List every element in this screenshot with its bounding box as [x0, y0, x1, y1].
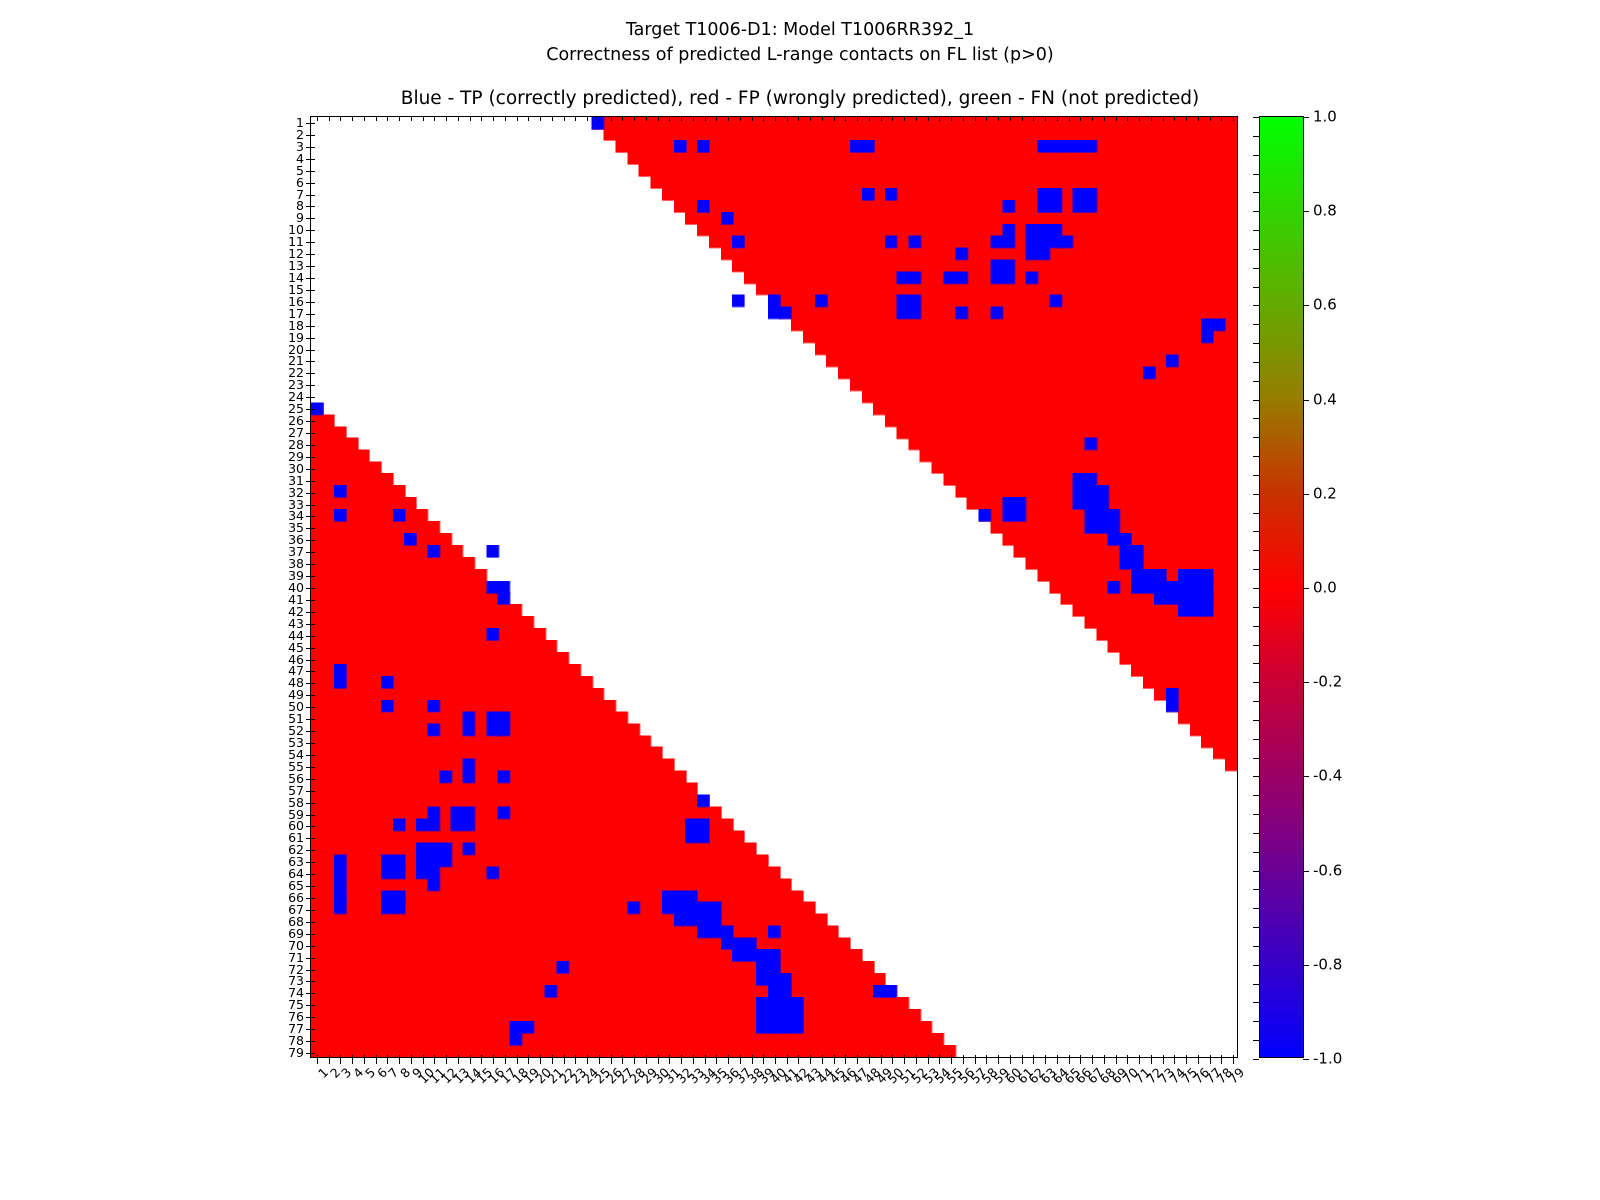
colorbar-minor-tick — [1253, 1059, 1259, 1060]
x-tick-inner — [458, 1055, 459, 1059]
x-tick — [599, 1059, 600, 1064]
colorbar-minor-tick — [1253, 494, 1259, 495]
x-tick-inner — [575, 1055, 576, 1059]
colorbar-tick-label: 0.0 — [1313, 581, 1337, 596]
y-tick-inner — [311, 731, 315, 732]
y-tick-inner — [311, 147, 315, 148]
x-tick — [881, 1059, 882, 1064]
x-tick-top — [1045, 117, 1046, 121]
x-tick-inner — [1221, 1055, 1222, 1059]
x-tick — [1163, 1059, 1164, 1064]
x-tick-top — [998, 117, 999, 121]
x-tick — [1033, 1059, 1034, 1064]
y-tick-inner — [311, 1005, 315, 1006]
x-tick-inner — [564, 1055, 565, 1059]
x-tick-inner — [517, 1055, 518, 1059]
x-tick-top — [646, 117, 647, 121]
x-tick-top — [493, 117, 494, 121]
x-tick-inner — [1210, 1055, 1211, 1059]
x-tick-top — [634, 117, 635, 121]
colorbar-minor-tick — [1253, 475, 1259, 476]
colorbar-minor-tick — [1253, 965, 1259, 966]
colorbar-minor-tick — [1253, 720, 1259, 721]
x-tick-top — [939, 117, 940, 121]
colorbar-minor-tick — [1253, 418, 1259, 419]
x-tick-inner — [705, 1055, 706, 1059]
x-tick-inner — [611, 1055, 612, 1059]
x-tick — [540, 1059, 541, 1064]
y-tick-inner — [311, 826, 315, 827]
x-tick-inner — [1198, 1055, 1199, 1059]
x-tick-top — [1069, 117, 1070, 121]
x-tick — [1045, 1059, 1046, 1064]
x-tick-inner — [1127, 1055, 1128, 1059]
x-tick — [928, 1059, 929, 1064]
x-tick-top — [387, 117, 388, 121]
x-tick — [564, 1059, 565, 1064]
y-tick-inner — [311, 421, 315, 422]
x-tick-inner — [787, 1055, 788, 1059]
suptitle-line-2: Correctness of predicted L-range contact… — [0, 43, 1600, 68]
x-tick-top — [681, 117, 682, 121]
x-tick-top — [1033, 117, 1034, 121]
x-tick — [387, 1059, 388, 1064]
x-tick-top — [693, 117, 694, 121]
colorbar-minor-tick — [1253, 343, 1259, 344]
x-tick — [669, 1059, 670, 1064]
x-tick — [399, 1059, 400, 1064]
x-tick-inner — [387, 1055, 388, 1059]
x-tick — [1092, 1059, 1093, 1064]
x-tick — [1057, 1059, 1058, 1064]
x-tick-inner — [528, 1055, 529, 1059]
x-tick-inner — [1057, 1055, 1058, 1059]
x-tick-top — [892, 117, 893, 121]
x-tick-top — [587, 117, 588, 121]
x-tick-top — [669, 117, 670, 121]
x-tick — [317, 1059, 318, 1064]
x-tick-top — [505, 117, 506, 121]
x-tick — [693, 1059, 694, 1064]
y-tick-inner — [311, 660, 315, 661]
y-tick-inner — [311, 493, 315, 494]
x-tick — [763, 1059, 764, 1064]
colorbar-minor-tick — [1253, 192, 1259, 193]
x-tick — [329, 1059, 330, 1064]
x-tick-inner — [822, 1055, 823, 1059]
y-tick-inner — [311, 254, 315, 255]
x-tick-top — [1163, 117, 1164, 121]
x-tick — [634, 1059, 635, 1064]
x-tick — [975, 1059, 976, 1064]
y-tick-inner — [311, 671, 315, 672]
colorbar-minor-tick — [1253, 795, 1259, 796]
y-tick-inner — [311, 171, 315, 172]
y-tick-inner — [311, 350, 315, 351]
x-tick-inner — [834, 1055, 835, 1059]
x-tick-top — [540, 117, 541, 121]
x-tick — [998, 1059, 999, 1064]
y-tick-inner — [311, 469, 315, 470]
y-tick-inner — [311, 302, 315, 303]
x-tick — [646, 1059, 647, 1064]
x-tick-top — [1092, 117, 1093, 121]
y-tick-inner — [311, 898, 315, 899]
colorbar-minor-tick — [1253, 287, 1259, 288]
x-tick-top — [1198, 117, 1199, 121]
y-tick-inner — [311, 314, 315, 315]
x-tick-inner — [1010, 1055, 1011, 1059]
x-tick — [1221, 1059, 1222, 1064]
y-tick-inner — [311, 1041, 315, 1042]
colorbar-minor-tick — [1253, 626, 1259, 627]
x-tick-inner — [986, 1055, 987, 1059]
y-tick-inner — [311, 815, 315, 816]
x-tick-inner — [916, 1055, 917, 1059]
x-tick-inner — [340, 1055, 341, 1059]
y-tick-label: 79 — [288, 1047, 304, 1060]
x-tick-inner — [505, 1055, 506, 1059]
colorbar-minor-tick — [1253, 513, 1259, 514]
x-tick — [1010, 1059, 1011, 1064]
x-tick — [916, 1059, 917, 1064]
colorbar-tick-label: 0.2 — [1313, 486, 1337, 501]
colorbar-tick — [1303, 871, 1309, 872]
y-tick-inner — [311, 588, 315, 589]
x-tick-top — [434, 117, 435, 121]
colorbar-minor-tick — [1253, 362, 1259, 363]
x-tick — [869, 1059, 870, 1064]
x-tick — [434, 1059, 435, 1064]
y-tick-inner — [311, 743, 315, 744]
y-tick-inner — [311, 481, 315, 482]
colorbar-tick — [1303, 776, 1309, 777]
y-tick-inner — [311, 159, 315, 160]
contact-map-axes[interactable]: 1234567891011121314151617181920212223242… — [310, 116, 1238, 1058]
y-tick-inner — [311, 123, 315, 124]
colorbar[interactable]: 1.00.80.60.40.20.0-0.2-0.4-0.6-0.8-1.0 — [1259, 116, 1304, 1058]
colorbar-minor-tick — [1253, 230, 1259, 231]
x-tick — [740, 1059, 741, 1064]
y-tick-inner — [311, 970, 315, 971]
x-tick-inner — [658, 1055, 659, 1059]
x-tick-inner — [1045, 1055, 1046, 1059]
y-tick-inner — [311, 624, 315, 625]
y-tick-inner — [311, 993, 315, 994]
colorbar-minor-tick — [1253, 682, 1259, 683]
colorbar-minor-tick — [1253, 155, 1259, 156]
colorbar-tick-label: 0.4 — [1313, 392, 1337, 407]
y-tick-inner — [311, 433, 315, 434]
x-tick-inner — [998, 1055, 999, 1059]
x-tick — [528, 1059, 529, 1064]
y-tick-inner — [311, 946, 315, 947]
x-tick-top — [458, 117, 459, 121]
colorbar-minor-tick — [1253, 645, 1259, 646]
x-tick — [845, 1059, 846, 1064]
colorbar-minor-tick — [1253, 607, 1259, 608]
y-tick-inner — [311, 719, 315, 720]
y-tick-inner — [311, 695, 315, 696]
x-tick-top — [928, 117, 929, 121]
axes-title: Blue - TP (correctly predicted), red - F… — [0, 88, 1600, 109]
x-tick — [622, 1059, 623, 1064]
x-tick-inner — [740, 1055, 741, 1059]
colorbar-minor-tick — [1253, 117, 1259, 118]
x-tick-top — [611, 117, 612, 121]
x-tick — [1080, 1059, 1081, 1064]
x-tick-inner — [481, 1055, 482, 1059]
x-tick-inner — [963, 1055, 964, 1059]
y-tick-inner — [311, 338, 315, 339]
y-tick-inner — [311, 636, 315, 637]
colorbar-minor-tick — [1253, 739, 1259, 740]
colorbar-tick — [1303, 494, 1309, 495]
x-tick — [517, 1059, 518, 1064]
colorbar-minor-tick — [1253, 211, 1259, 212]
colorbar-minor-tick — [1253, 305, 1259, 306]
y-tick-inner — [311, 290, 315, 291]
colorbar-minor-tick — [1253, 569, 1259, 570]
x-tick-top — [658, 117, 659, 121]
x-tick — [728, 1059, 729, 1064]
x-tick-top — [317, 117, 318, 121]
colorbar-minor-tick — [1253, 927, 1259, 928]
x-tick-top — [1221, 117, 1222, 121]
x-tick — [1210, 1059, 1211, 1064]
x-tick-inner — [622, 1055, 623, 1059]
x-tick-inner — [810, 1055, 811, 1059]
y-tick-inner — [311, 385, 315, 386]
x-tick — [834, 1059, 835, 1064]
y-tick-inner — [311, 183, 315, 184]
x-tick-top — [423, 117, 424, 121]
x-tick — [1022, 1059, 1023, 1064]
colorbar-minor-tick — [1253, 758, 1259, 759]
x-tick — [552, 1059, 553, 1064]
x-tick-inner — [939, 1055, 940, 1059]
x-tick-inner — [693, 1055, 694, 1059]
y-tick-inner — [311, 564, 315, 565]
y-tick-inner — [311, 361, 315, 362]
colorbar-minor-tick — [1253, 249, 1259, 250]
x-tick-top — [329, 117, 330, 121]
x-tick-inner — [881, 1055, 882, 1059]
x-tick — [1104, 1059, 1105, 1064]
colorbar-minor-tick — [1253, 1021, 1259, 1022]
y-tick-inner — [311, 958, 315, 959]
x-tick-inner — [493, 1055, 494, 1059]
x-tick — [481, 1059, 482, 1064]
x-tick-top — [517, 117, 518, 121]
colorbar-tick — [1303, 400, 1309, 401]
x-tick-top — [399, 117, 400, 121]
y-tick-inner — [311, 910, 315, 911]
x-tick-top — [787, 117, 788, 121]
x-tick-top — [1127, 117, 1128, 121]
x-tick-inner — [1151, 1055, 1152, 1059]
x-tick — [810, 1059, 811, 1064]
y-tick-inner — [311, 934, 315, 935]
y-tick-inner — [311, 850, 315, 851]
y-tick-inner — [311, 803, 315, 804]
x-tick — [575, 1059, 576, 1064]
x-tick-top — [446, 117, 447, 121]
x-tick-inner — [423, 1055, 424, 1059]
x-tick-top — [822, 117, 823, 121]
x-tick-top — [1080, 117, 1081, 121]
y-tick-inner — [311, 266, 315, 267]
x-tick — [1127, 1059, 1128, 1064]
x-tick — [1186, 1059, 1187, 1064]
x-tick — [986, 1059, 987, 1064]
y-tick-inner — [311, 862, 315, 863]
colorbar-minor-tick — [1253, 174, 1259, 175]
x-tick-top — [728, 117, 729, 121]
colorbar-tick-label: -0.2 — [1313, 675, 1342, 690]
y-tick-inner — [311, 409, 315, 410]
x-tick-top — [834, 117, 835, 121]
x-tick-top — [857, 117, 858, 121]
x-tick-inner — [352, 1055, 353, 1059]
y-tick-inner — [311, 886, 315, 887]
x-tick-inner — [1022, 1055, 1023, 1059]
x-tick-top — [986, 117, 987, 121]
x-tick-inner — [1116, 1055, 1117, 1059]
y-tick-inner — [311, 767, 315, 768]
suptitle-line-1: Target T1006-D1: Model T1006RR392_1 — [626, 20, 974, 40]
y-tick-inner — [311, 648, 315, 649]
x-tick-top — [1151, 117, 1152, 121]
y-tick-inner — [311, 683, 315, 684]
y-tick-inner — [311, 922, 315, 923]
x-tick — [1069, 1059, 1070, 1064]
x-tick — [892, 1059, 893, 1064]
colorbar-tick-label: 0.6 — [1313, 298, 1337, 313]
x-tick — [658, 1059, 659, 1064]
colorbar-tick-label: 0.8 — [1313, 204, 1337, 219]
x-tick-top — [481, 117, 482, 121]
colorbar-minor-tick — [1253, 400, 1259, 401]
x-tick-top — [975, 117, 976, 121]
x-tick-top — [1174, 117, 1175, 121]
y-tick-inner — [311, 445, 315, 446]
x-tick-inner — [1233, 1055, 1234, 1059]
colorbar-tick — [1303, 117, 1309, 118]
x-tick-top — [1139, 117, 1140, 121]
colorbar-minor-tick — [1253, 550, 1259, 551]
x-tick-top — [528, 117, 529, 121]
figure-root: Target T1006-D1: Model T1006RR392_1 Corr… — [0, 0, 1600, 1200]
x-tick — [1116, 1059, 1117, 1064]
y-tick-inner — [311, 1029, 315, 1030]
x-tick-top — [716, 117, 717, 121]
x-tick-inner — [975, 1055, 976, 1059]
x-tick-inner — [669, 1055, 670, 1059]
x-tick-top — [916, 117, 917, 121]
x-tick — [963, 1059, 964, 1064]
x-tick — [376, 1059, 377, 1064]
x-tick-inner — [1104, 1055, 1105, 1059]
x-tick-top — [470, 117, 471, 121]
x-tick — [681, 1059, 682, 1064]
y-tick-inner — [311, 230, 315, 231]
colorbar-minor-tick — [1253, 437, 1259, 438]
x-tick-top — [1057, 117, 1058, 121]
x-tick-inner — [470, 1055, 471, 1059]
x-tick-inner — [646, 1055, 647, 1059]
y-tick-inner — [311, 528, 315, 529]
x-tick-inner — [552, 1055, 553, 1059]
contact-map-heatmap[interactable] — [311, 117, 1237, 1057]
x-tick-inner — [434, 1055, 435, 1059]
x-tick — [705, 1059, 706, 1064]
x-tick-top — [705, 117, 706, 121]
colorbar-minor-tick — [1253, 946, 1259, 947]
colorbar-tick-label: -0.6 — [1313, 863, 1342, 878]
x-tick — [587, 1059, 588, 1064]
x-tick — [505, 1059, 506, 1064]
x-tick-top — [951, 117, 952, 121]
x-tick-inner — [599, 1055, 600, 1059]
colorbar-tick-label: -0.8 — [1313, 957, 1342, 972]
x-tick — [798, 1059, 799, 1064]
y-tick-inner — [311, 326, 315, 327]
x-tick — [822, 1059, 823, 1064]
x-tick — [904, 1059, 905, 1064]
x-tick — [470, 1059, 471, 1064]
x-tick-inner — [869, 1055, 870, 1059]
x-tick-inner — [587, 1055, 588, 1059]
y-tick-inner — [311, 397, 315, 398]
y-tick-inner — [311, 195, 315, 196]
x-tick — [939, 1059, 940, 1064]
x-tick-top — [881, 117, 882, 121]
x-tick-inner — [775, 1055, 776, 1059]
colorbar-minor-tick — [1253, 701, 1259, 702]
x-tick-top — [1116, 117, 1117, 121]
y-tick-inner — [311, 779, 315, 780]
y-tick-inner — [311, 505, 315, 506]
x-tick-inner — [752, 1055, 753, 1059]
colorbar-tick — [1303, 305, 1309, 306]
x-tick-inner — [1174, 1055, 1175, 1059]
x-tick-top — [552, 117, 553, 121]
x-tick-top — [963, 117, 964, 121]
colorbar-tick — [1303, 682, 1309, 683]
x-tick-inner — [728, 1055, 729, 1059]
x-tick-top — [752, 117, 753, 121]
x-tick-inner — [681, 1055, 682, 1059]
x-tick — [446, 1059, 447, 1064]
x-tick-inner — [376, 1055, 377, 1059]
x-tick-inner — [1069, 1055, 1070, 1059]
y-tick-inner — [311, 242, 315, 243]
y-tick-inner — [311, 838, 315, 839]
y-tick-inner — [311, 552, 315, 553]
x-tick-top — [798, 117, 799, 121]
x-tick-inner — [763, 1055, 764, 1059]
x-tick — [787, 1059, 788, 1064]
x-tick-top — [1233, 117, 1234, 121]
x-tick-inner — [364, 1055, 365, 1059]
colorbar-minor-tick — [1253, 1002, 1259, 1003]
colorbar-minor-tick — [1253, 776, 1259, 777]
x-tick-top — [845, 117, 846, 121]
x-tick-top — [763, 117, 764, 121]
x-tick — [340, 1059, 341, 1064]
colorbar-minor-tick — [1253, 833, 1259, 834]
